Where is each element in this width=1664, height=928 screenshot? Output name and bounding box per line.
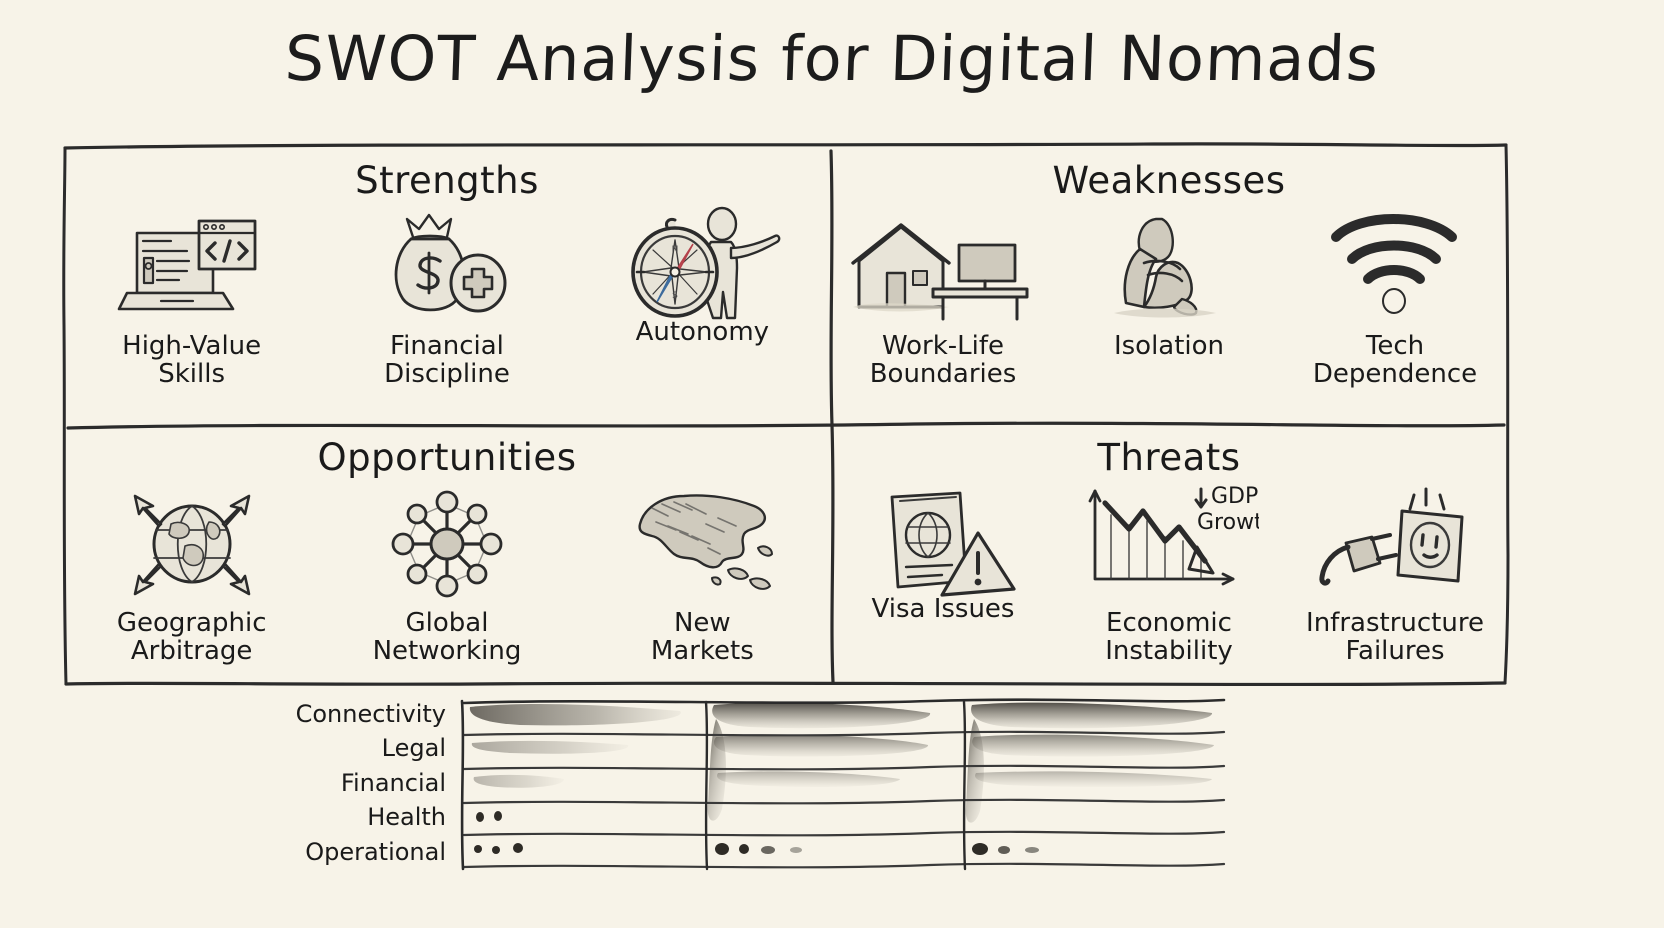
risk-table-row-labels: Connectivity Legal Financial Health Oper… — [288, 697, 456, 869]
swot-item-autonomy[interactable]: N S Autonomy — [602, 208, 802, 346]
svg-text:N: N — [672, 245, 679, 255]
swot-item-label: Work-Life Boundaries — [870, 332, 1017, 388]
money-bag-plus-icon — [377, 208, 517, 326]
swot-item-infrastructure-failures[interactable]: Infrastructure Failures — [1295, 485, 1495, 665]
swot-item-label: Economic Instability — [1105, 609, 1233, 665]
svg-text:S: S — [672, 291, 678, 301]
sitting-person-icon — [1104, 208, 1234, 326]
swot-item-geographic-arbitrage[interactable]: Geographic Arbitrage — [92, 485, 292, 665]
risk-table-grid[interactable] — [460, 697, 1228, 869]
quadrant-heading-opportunities: Opportunities — [64, 436, 830, 479]
laptop-code-icon — [117, 208, 267, 326]
swot-item-label: Infrastructure Failures — [1306, 609, 1484, 665]
swot-item-label: Visa Issues — [872, 595, 1015, 623]
declining-chart-icon: GDP Growth — [1079, 485, 1259, 603]
risk-table-row-label: Legal — [288, 731, 456, 765]
risk-table-row-label: Operational — [288, 835, 456, 869]
swot-item-label: Geographic Arbitrage — [117, 609, 267, 665]
quadrant-heading-weaknesses: Weaknesses — [830, 159, 1508, 202]
page-title: SWOT Analysis for Digital Nomads — [0, 22, 1664, 95]
swot-item-financial-discipline[interactable]: Financial Discipline — [347, 208, 547, 388]
swot-item-label: Tech Dependence — [1313, 332, 1477, 388]
swot-item-label: Autonomy — [636, 318, 769, 346]
swot-item-work-life-boundaries[interactable]: Work-Life Boundaries — [843, 208, 1043, 388]
house-desk-icon — [849, 208, 1037, 326]
risk-table-row-label: Financial — [288, 766, 456, 800]
swot-item-global-networking[interactable]: Global Networking — [347, 485, 547, 665]
swot-item-isolation[interactable]: Isolation — [1069, 208, 1269, 360]
risk-table-row-label: Health — [288, 800, 456, 834]
risk-table: Connectivity Legal Financial Health Oper… — [288, 697, 1228, 869]
swot-item-label: New Markets — [651, 609, 754, 665]
network-hub-icon — [377, 485, 517, 603]
plug-outlet-spark-icon — [1310, 485, 1480, 603]
swot-item-new-markets[interactable]: New Markets — [602, 485, 802, 665]
quadrant-weaknesses: Weaknesses — [830, 145, 1508, 428]
swot-item-label: Global Networking — [373, 609, 522, 665]
quadrant-strengths: Strengths — [64, 145, 830, 428]
swot-item-economic-instability[interactable]: GDP Growth Economic Instability — [1069, 485, 1269, 665]
quadrant-heading-threats: Threats — [830, 436, 1508, 479]
quadrant-opportunities: Opportunities — [64, 428, 830, 683]
swot-item-label: Isolation — [1114, 332, 1224, 360]
quadrant-heading-strengths: Strengths — [64, 159, 830, 202]
wifi-icon — [1320, 208, 1470, 326]
swot-matrix: Strengths — [64, 145, 1508, 683]
swot-item-label: High-Value Skills — [122, 332, 261, 388]
compass-person-icon: N S — [617, 208, 787, 326]
risk-table-row-label: Connectivity — [288, 697, 456, 731]
swot-item-tech-dependence[interactable]: Tech Dependence — [1295, 208, 1495, 388]
globe-arrows-icon — [117, 485, 267, 603]
swot-item-label: Financial Discipline — [384, 332, 510, 388]
asia-map-icon — [622, 485, 782, 603]
swot-item-visa-issues[interactable]: Visa Issues — [843, 485, 1043, 623]
swot-item-high-value-skills[interactable]: High-Value Skills — [92, 208, 292, 388]
passport-warning-icon — [868, 485, 1018, 603]
gdp-annotation-line2: Growth — [1197, 510, 1259, 535]
quadrant-threats: Threats — [830, 428, 1508, 683]
gdp-annotation-line1: GDP — [1211, 485, 1258, 509]
